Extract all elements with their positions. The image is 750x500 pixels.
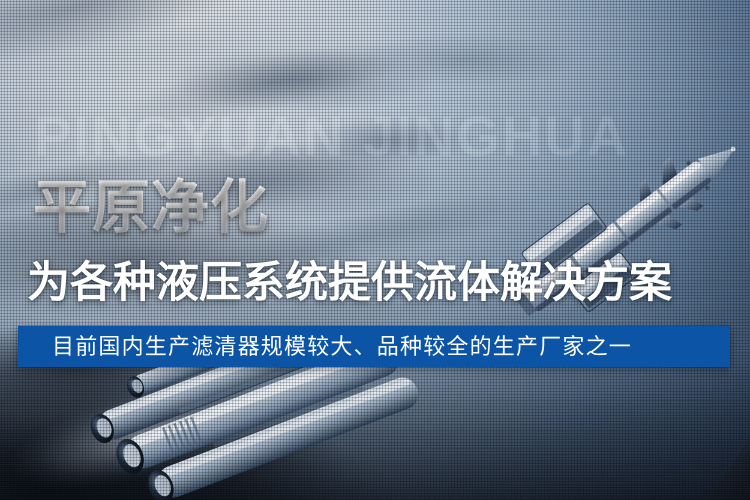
page-subtitle: 为各种液压系统提供流体解决方案 — [27, 259, 672, 307]
highlight-bar: 目前国内生产滤清器规模较大、品种较全的生产厂家之一 — [18, 326, 730, 367]
highlight-bar-text: 目前国内生产滤清器规模较大、品种较全的生产厂家之一 — [52, 326, 632, 367]
background-watermark-text: PINGYUAN JINGHUA — [34, 108, 629, 164]
page-title: 平原净化 — [33, 176, 269, 240]
promotional-banner: PINGYUAN JINGHUA 平原净化 为各种液压系统提供流体解决方案 目前… — [0, 0, 750, 500]
